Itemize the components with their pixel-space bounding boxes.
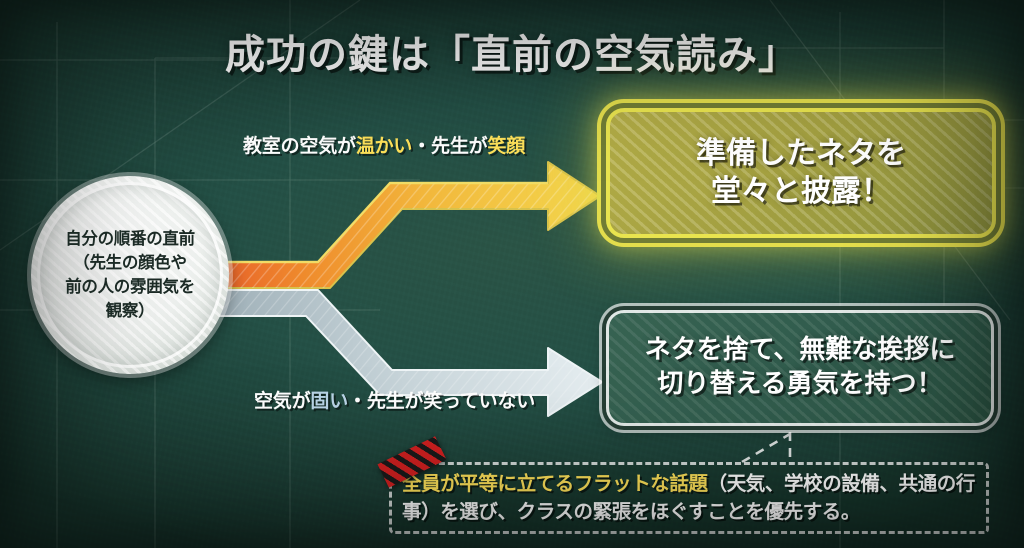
result-bad-label: ネタを捨て、無難な挨拶に 切り替える勇気を持つ！ xyxy=(645,334,956,402)
result-box-good-outcome: 準備したネタを 堂々と披露！ xyxy=(606,108,996,238)
bottom-note: 全員が平等に立てるフラットな話題（天気、学校の設備、共通の行事）を選び、クラスの… xyxy=(389,462,989,534)
bottom-note-text: 全員が平等に立てるフラットな話題（天気、学校の設備、共通の行事）を選び、クラスの… xyxy=(402,470,976,525)
branch-cold-highlight-1: 固い xyxy=(310,390,348,412)
arrow-warm-branch xyxy=(218,162,600,288)
dashed-connector xyxy=(742,432,790,462)
bottom-note-highlight: 全員が平等に立てるフラットな話題 xyxy=(402,472,708,495)
branch-warm-highlight-2: 笑顔 xyxy=(487,135,525,157)
branch-label-cold: 空気が固い・先生が笑っていない xyxy=(254,386,535,413)
result-box-alternate-outcome: ネタを捨て、無難な挨拶に 切り替える勇気を持つ！ xyxy=(606,310,994,426)
branch-cold-prefix: 空気が xyxy=(254,390,310,412)
branch-warm-highlight-1: 温かい xyxy=(356,135,412,157)
branch-warm-middle: ・先生が xyxy=(412,135,487,157)
branch-warm-prefix: 教室の空気が xyxy=(243,135,356,157)
result-good-label: 準備したネタを 堂々と披露！ xyxy=(696,135,906,212)
start-node-circle: 自分の順番の直前 （先生の顔色や 前の人の雰囲気を 観察） xyxy=(31,176,229,374)
chalkboard-infographic: 成功の鍵は「直前の空気読み」 xyxy=(0,0,1024,548)
branch-label-warm: 教室の空気が温かい・先生が笑顔 xyxy=(243,131,525,158)
start-node-label: 自分の順番の直前 （先生の顔色や 前の人の雰囲気を 観察） xyxy=(65,227,195,323)
branch-cold-middle: ・先生が笑っていない xyxy=(348,390,535,412)
